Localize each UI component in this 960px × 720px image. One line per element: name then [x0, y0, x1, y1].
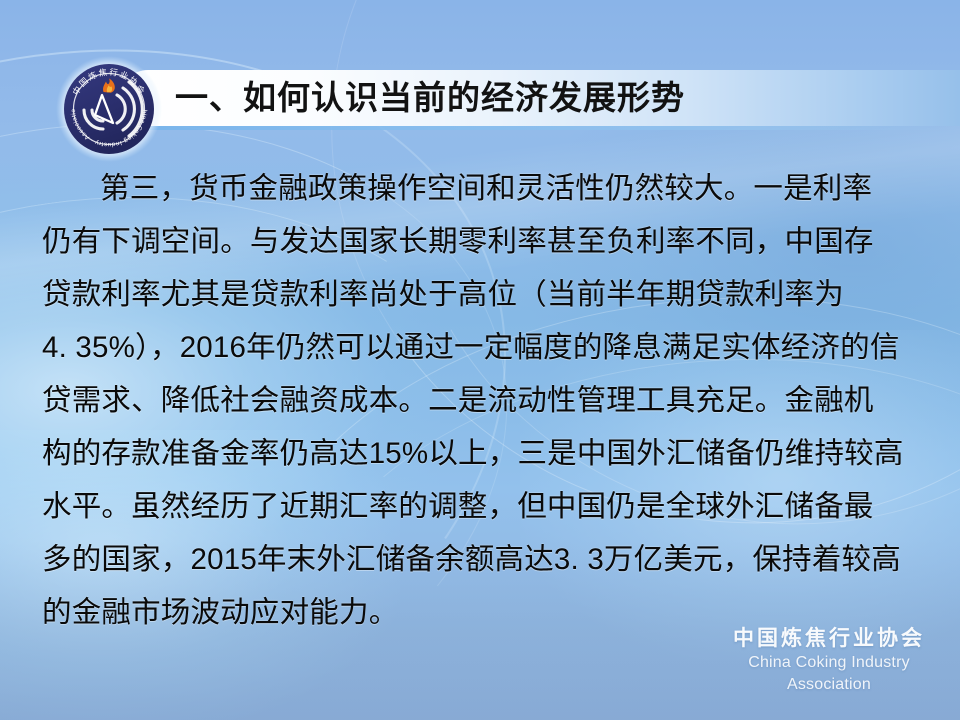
- body-line: 4. 35%），2016年仍然可以通过一定幅度的降息满足实体经济的信: [42, 321, 922, 374]
- page-title: 一、如何认识当前的经济发展形势: [175, 72, 685, 124]
- footer-name-cn: 中国炼焦行业协会: [714, 625, 944, 652]
- body-line: 贷款利率尤其是贷款利率尚处于高位（当前半年期贷款利率为: [42, 268, 922, 321]
- footer-branding: 中国炼焦行业协会 China Coking Industry Associati…: [714, 625, 944, 696]
- footer-name-en: China Coking Industry Association: [714, 652, 944, 696]
- body-line: 仍有下调空间。与发达国家长期零利率甚至负利率不同，中国存: [42, 215, 922, 268]
- title-underline: [126, 126, 960, 130]
- body-line: 第三，货币金融政策操作空间和灵活性仍然较大。一是利率: [42, 162, 922, 215]
- body-line: 水平。虽然经历了近期汇率的调整，但中国仍是全球外汇储备最: [42, 480, 922, 533]
- association-logo: 中国炼焦行业协会 China Coking Industry · Associa…: [55, 55, 163, 163]
- body-line: 贷需求、降低社会融资成本。二是流动性管理工具充足。金融机: [42, 374, 922, 427]
- slide-body: 第三，货币金融政策操作空间和灵活性仍然较大。一是利率 仍有下调空间。与发达国家长…: [42, 162, 922, 639]
- body-line: 构的存款准备金率仍高达15%以上，三是中国外汇储备仍维持较高: [42, 427, 922, 480]
- body-line: 多的国家，2015年末外汇储备余额高达3. 3万亿美元，保持着较高: [42, 533, 922, 586]
- presentation-slide: 一、如何认识当前的经济发展形势: [0, 0, 960, 720]
- slide-header: 一、如何认识当前的经济发展形势: [0, 0, 960, 150]
